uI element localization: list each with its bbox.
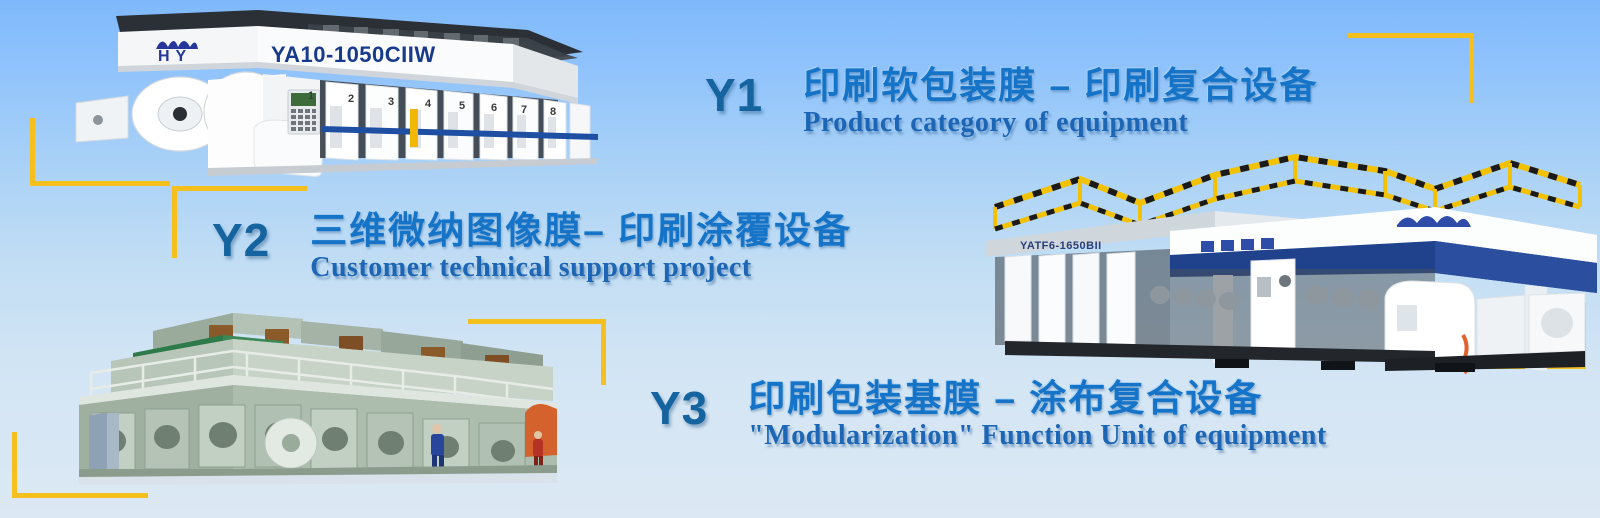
machine-top-left-printing-press: HY YA10-1050CIIW 1 2 3 4 5 6 7 8	[58, 8, 603, 178]
unit-number: 8	[550, 106, 556, 118]
machine-middle-right-coating-laminator: YATF6-1650BII	[965, 145, 1600, 375]
row-code-y3: Y3	[650, 385, 708, 431]
row-english-y1: Product category of equipment	[803, 108, 1318, 139]
bracket-middle-vertical	[601, 319, 606, 385]
coating-laminator-illustration	[965, 145, 1600, 375]
bracket-top-left-horizontal	[30, 181, 170, 186]
text-row-y3: Y3 印刷包装基膜 – 涂布复合设备 "Modularization" Func…	[650, 385, 1327, 452]
printing-press-illustration	[58, 8, 603, 178]
unit-number: 7	[521, 104, 527, 116]
hy-bird-logo-icon	[154, 33, 200, 53]
unit-number: 6	[491, 102, 497, 114]
unit-number: 4	[425, 98, 431, 110]
bracket-bottom-left-vertical	[12, 432, 17, 498]
row-text-y3: 印刷包装基膜 – 涂布复合设备 "Modularization" Functio…	[748, 378, 1326, 452]
row-code-y1: Y1	[705, 72, 763, 118]
unit-number: 1	[308, 90, 314, 102]
row-chinese-y2: 三维微纳图像膜– 印刷涂覆设备	[310, 210, 852, 251]
bracket-top-right-vertical	[1469, 33, 1474, 103]
text-row-y2: Y2 三维微纳图像膜– 印刷涂覆设备 Customer technical su…	[212, 217, 852, 284]
bracket-bottom-left-horizontal	[12, 493, 148, 498]
bracket-y2-horizontal	[172, 186, 307, 191]
machine-bottom-left-base-film-line	[33, 305, 578, 485]
bracket-y2-vertical	[172, 186, 177, 258]
unit-number: 5	[459, 100, 465, 112]
bracket-top-left-vertical	[30, 118, 35, 186]
row-text-y1: 印刷软包装膜 – 印刷复合设备 Product category of equi…	[803, 65, 1318, 139]
machine-model-label: YATF6-1650BII	[1020, 240, 1102, 252]
text-row-y1: Y1 印刷软包装膜 – 印刷复合设备 Product category of e…	[705, 72, 1318, 139]
unit-number: 3	[388, 96, 394, 108]
row-english-y2: Customer technical support project	[310, 253, 852, 284]
row-code-y2: Y2	[212, 217, 270, 263]
bracket-top-right-horizontal	[1348, 33, 1474, 38]
row-english-y3: "Modularization" Function Unit of equipm…	[748, 421, 1326, 452]
row-chinese-y3: 印刷包装基膜 – 涂布复合设备	[748, 378, 1326, 419]
row-chinese-y1: 印刷软包装膜 – 印刷复合设备	[803, 65, 1318, 106]
unit-number: 2	[348, 93, 354, 105]
row-text-y2: 三维微纳图像膜– 印刷涂覆设备 Customer technical suppo…	[310, 210, 852, 284]
equipment-category-banner: HY YA10-1050CIIW 1 2 3 4 5 6 7 8	[0, 0, 1600, 518]
machine-model-label: YA10-1050CIIW	[271, 42, 436, 68]
base-film-line-illustration	[33, 305, 578, 485]
